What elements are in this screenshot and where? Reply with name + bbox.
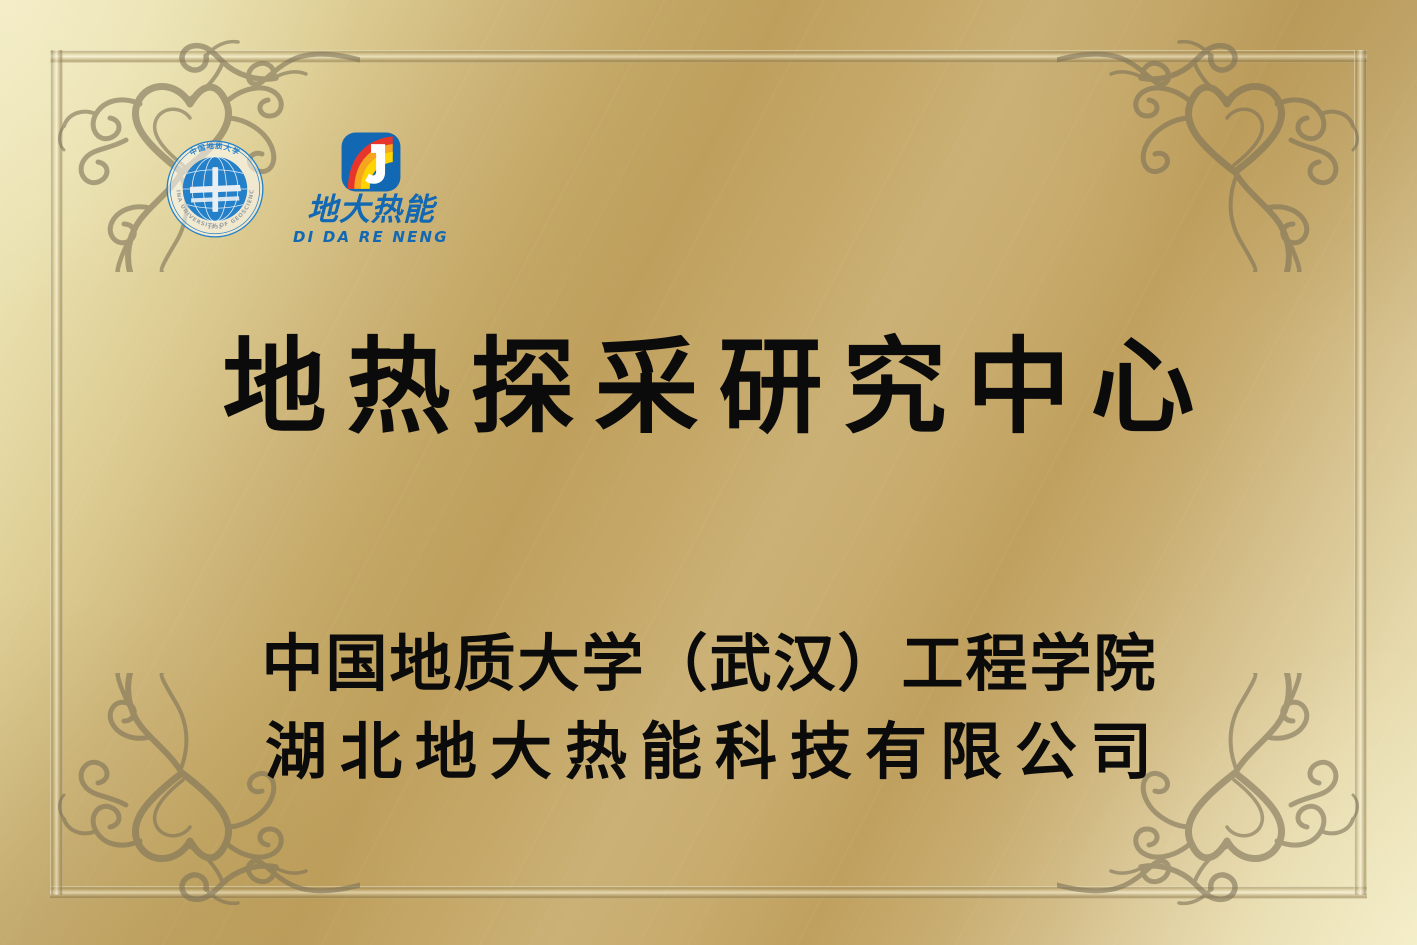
company-name-cn: 地大热能	[307, 195, 435, 226]
university-seal: 中国地质大学 CHINA UNIVERSITY OF GEOSCIENCES 1…	[163, 137, 267, 241]
organization-line-2: 湖北地大热能科技有限公司	[0, 708, 1417, 796]
svg-text:1952: 1952	[207, 225, 222, 231]
frame-rule-bottom	[50, 886, 1367, 899]
organization-line-1: 中国地质大学（武汉）工程学院	[0, 620, 1417, 708]
award-plaque: 中国地质大学 CHINA UNIVERSITY OF GEOSCIENCES 1…	[0, 0, 1417, 945]
ornament-corner-top-right	[1057, 22, 1387, 272]
company-logo: 地大热能 DI DA RE NENG	[293, 130, 449, 249]
company-name-en: DI DA RE NENG	[293, 226, 449, 249]
frame-rule-top	[50, 50, 1367, 63]
organization-block: 中国地质大学（武汉）工程学院 湖北地大热能科技有限公司	[0, 620, 1417, 796]
logo-row: 中国地质大学 CHINA UNIVERSITY OF GEOSCIENCES 1…	[163, 130, 449, 249]
plaque-title: 地热探采研究中心	[0, 330, 1417, 444]
